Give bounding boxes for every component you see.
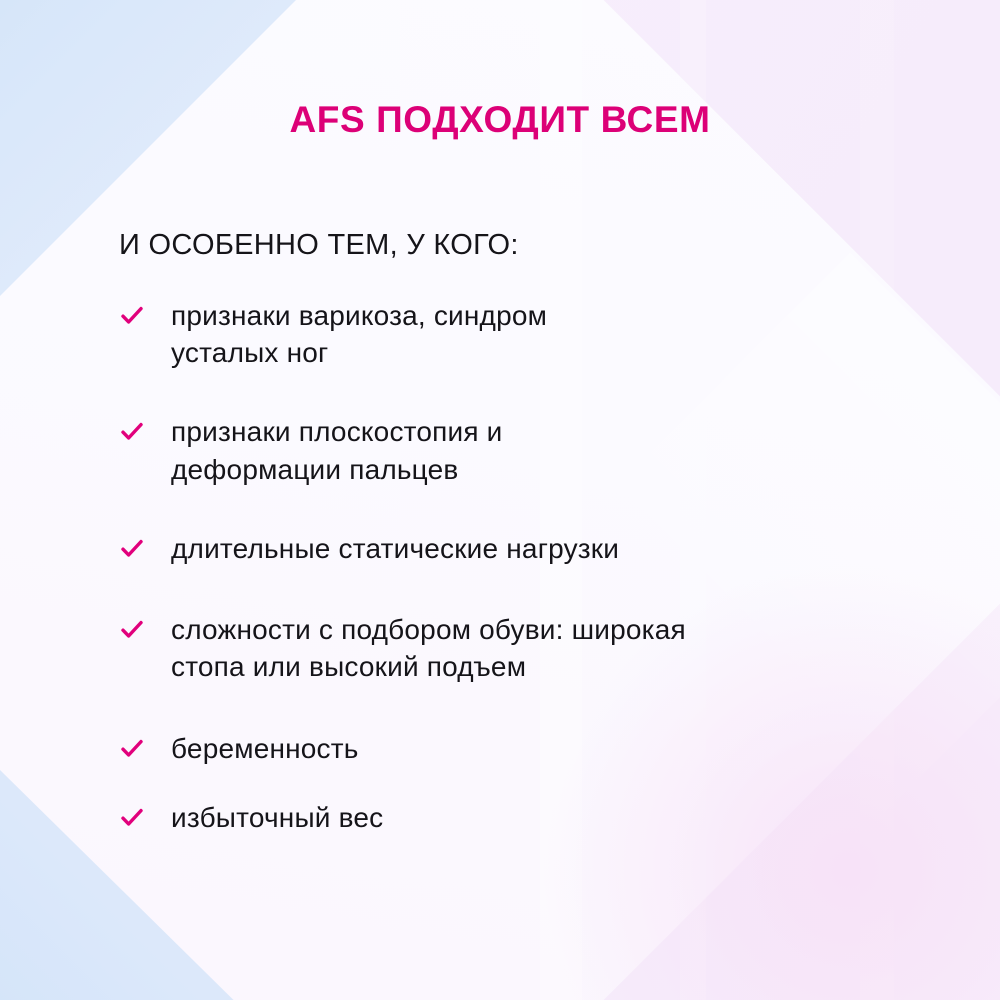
list-item-label: беременность (171, 730, 359, 767)
benefits-list: признаки варикоза, синдром усталых ног п… (119, 297, 909, 836)
list-item: избыточный вес (119, 799, 909, 836)
list-item-label: признаки варикоза, синдром усталых ног (171, 297, 547, 371)
check-icon (119, 805, 145, 831)
list-item-label: признаки плоскостопия и деформации пальц… (171, 413, 503, 487)
poster-content: AFS ПОДХОДИТ ВСЕМ И ОСОБЕННО ТЕМ, У КОГО… (0, 0, 1000, 1000)
list-item: признаки плоскостопия и деформации пальц… (119, 413, 909, 487)
list-item: признаки варикоза, синдром усталых ног (119, 297, 909, 371)
page-title: AFS ПОДХОДИТ ВСЕМ (0, 99, 1000, 142)
check-icon (119, 536, 145, 562)
check-icon (119, 736, 145, 762)
check-icon (119, 303, 145, 329)
list-item-label: избыточный вес (171, 799, 383, 836)
list-item: сложности с подбором обуви: широкая стоп… (119, 611, 909, 685)
check-icon (119, 419, 145, 445)
page-subtitle: И ОСОБЕННО ТЕМ, У КОГО: (119, 228, 519, 263)
poster-canvas: AFS ПОДХОДИТ ВСЕМ И ОСОБЕННО ТЕМ, У КОГО… (0, 0, 1000, 1000)
list-item: длительные статические нагрузки (119, 530, 909, 567)
list-item-label: сложности с подбором обуви: широкая стоп… (171, 611, 686, 685)
list-item-label: длительные статические нагрузки (171, 530, 619, 567)
check-icon (119, 617, 145, 643)
list-item: беременность (119, 730, 909, 767)
